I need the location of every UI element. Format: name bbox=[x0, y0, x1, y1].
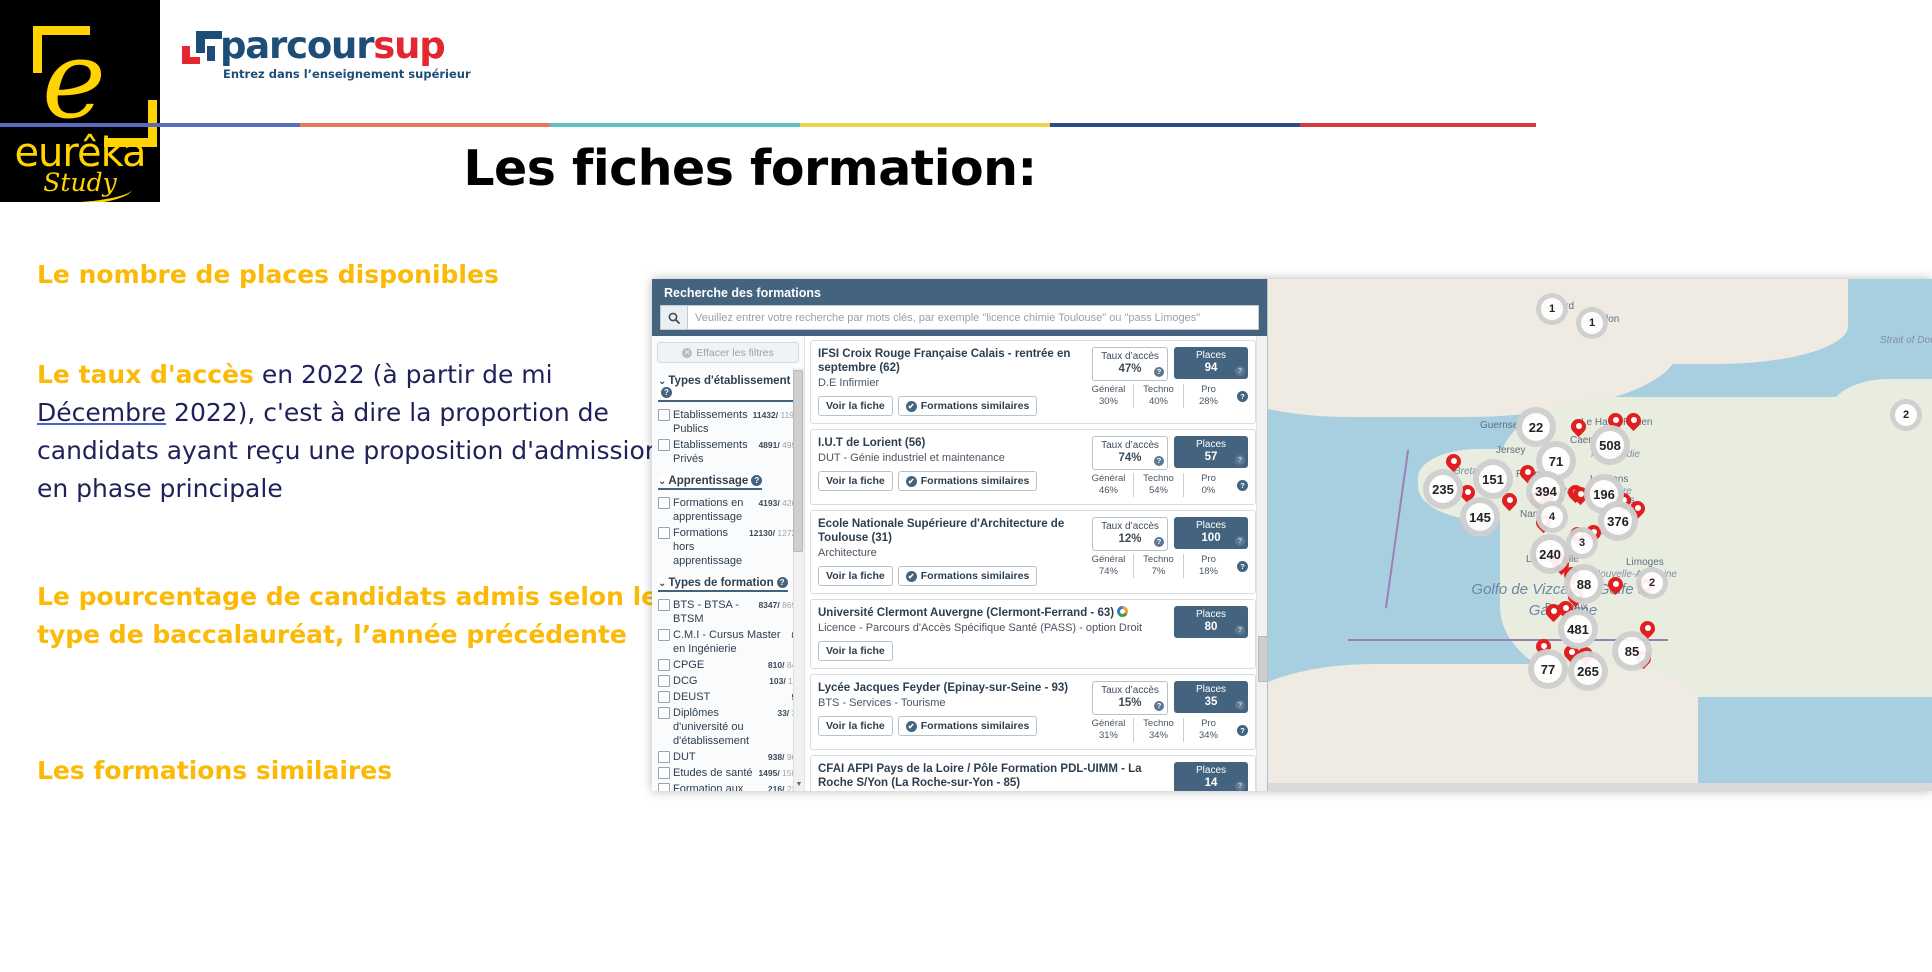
filter-item-label: Formations hors apprentissage bbox=[673, 526, 744, 568]
bullet-pourcentage-candidats: Le pourcentage de candidats admis selon … bbox=[37, 578, 677, 654]
result-card-main: CFAI AFPI Pays de la Loire / Pôle Format… bbox=[818, 762, 1168, 791]
bac-pro-value: 34% bbox=[1199, 730, 1218, 741]
result-stats: Taux d’accès47%?Places94?Général30%Techn… bbox=[1084, 347, 1248, 408]
result-card-main: Université Clermont Auvergne (Clermont-F… bbox=[818, 606, 1168, 661]
bac-general: Général31% bbox=[1084, 718, 1134, 742]
map-place-label: Jersey bbox=[1496, 445, 1525, 456]
help-icon[interactable]: ? bbox=[1235, 455, 1245, 465]
divider-segment bbox=[800, 123, 1050, 127]
map-cluster-marker[interactable]: 2 bbox=[1890, 399, 1922, 431]
map-pin-icon[interactable] bbox=[1608, 577, 1623, 592]
divider-segment bbox=[1050, 123, 1300, 127]
bac-techno: Techno34% bbox=[1134, 718, 1184, 742]
places-label: Places bbox=[1174, 765, 1248, 777]
taux-acces-badge: Taux d’accès47%? bbox=[1092, 347, 1168, 381]
help-icon[interactable]: ? bbox=[777, 577, 788, 588]
chevron-down-icon: ⌄ bbox=[658, 376, 666, 387]
bac-techno-value: 7% bbox=[1152, 566, 1166, 577]
map-pin-icon[interactable] bbox=[1446, 454, 1461, 469]
filter-group-label: Types de formation bbox=[668, 577, 773, 589]
bac-pro-label: Pro bbox=[1184, 554, 1233, 566]
map-cluster-marker[interactable]: 145 bbox=[1460, 497, 1500, 537]
bac-breakdown: Général74%Techno7%Pro18%? bbox=[1084, 554, 1248, 578]
filter-item-label: DEUST bbox=[673, 690, 787, 704]
voir-la-fiche-button[interactable]: Voir la fiche bbox=[818, 471, 893, 491]
result-actions: Voir la fiche✔Formations similaires bbox=[818, 566, 1078, 586]
map-cluster-marker[interactable]: 240 bbox=[1530, 534, 1570, 574]
help-icon[interactable]: ? bbox=[1235, 366, 1245, 376]
close-icon: ✕ bbox=[682, 348, 692, 358]
bullet-text-run: Le nombre de places disponibles bbox=[37, 260, 499, 289]
help-icon[interactable]: ? bbox=[1154, 701, 1164, 711]
bac-general: Général30% bbox=[1084, 384, 1134, 408]
bac-general-value: 46% bbox=[1099, 485, 1118, 496]
places-badge: Places35? bbox=[1174, 681, 1248, 713]
bullet-text-run: Les formations similaires bbox=[37, 756, 392, 785]
voir-la-fiche-button[interactable]: Voir la fiche bbox=[818, 566, 893, 586]
chevron-down-icon: ⌄ bbox=[658, 578, 666, 589]
stat-badges: Taux d’accès74%?Places57? bbox=[1092, 436, 1248, 470]
filter-item[interactable]: DUT938/ 962 bbox=[658, 750, 801, 764]
filter-item[interactable]: Etudes de santé1495/ 1584 bbox=[658, 766, 801, 780]
filter-item-label: Formations en apprentissage bbox=[673, 496, 753, 524]
places-badge: Places94? bbox=[1174, 347, 1248, 379]
result-card-main: I.U.T de Lorient (56)DUT - Génie industr… bbox=[818, 436, 1078, 491]
bac-pro: Pro28% bbox=[1184, 384, 1233, 408]
results-scrollbar[interactable] bbox=[1256, 336, 1267, 791]
search-input[interactable] bbox=[687, 305, 1259, 330]
filter-checkbox[interactable] bbox=[658, 629, 670, 641]
bullet-taux-acces: Le taux d'accès en 2022 (à partir de mi … bbox=[37, 356, 687, 508]
map-maritime-border bbox=[1385, 450, 1409, 609]
filter-item[interactable]: Diplômes d'université ou d'établissement… bbox=[658, 706, 801, 748]
bac-general-value: 74% bbox=[1099, 566, 1118, 577]
bac-techno-value: 40% bbox=[1149, 396, 1168, 407]
help-icon[interactable]: ? bbox=[1235, 625, 1245, 635]
result-stats: Taux d’accès15%?Places35?Général31%Techn… bbox=[1084, 681, 1248, 742]
result-stats: Taux d’accès12%?Places100?Général74%Tech… bbox=[1084, 517, 1248, 578]
app-header-title: Recherche des formations bbox=[660, 285, 1259, 305]
bac-techno: Techno7% bbox=[1134, 554, 1184, 578]
voir-la-fiche-button[interactable]: Voir la fiche bbox=[818, 396, 893, 416]
slide-canvas: e eurêka Study parcoursup Entrez dans l’… bbox=[0, 0, 1932, 972]
color-divider bbox=[0, 123, 1536, 127]
bac-techno-label: Techno bbox=[1134, 554, 1183, 566]
scroll-down-icon[interactable]: ▼ bbox=[795, 781, 803, 789]
map-cluster-marker[interactable]: 508 bbox=[1590, 425, 1630, 465]
map-landmass-north bbox=[1828, 379, 1932, 499]
bac-pro-value: 18% bbox=[1199, 566, 1218, 577]
result-title: Lycée Jacques Feyder (Epinay-sur-Seine -… bbox=[818, 681, 1078, 695]
result-subtitle: DUT - Génie industriel et maintenance bbox=[818, 451, 1078, 465]
result-actions: Voir la fiche bbox=[818, 641, 1168, 661]
bac-general: Général46% bbox=[1084, 473, 1134, 497]
filter-item-label: Etablissements Privés bbox=[673, 438, 753, 466]
map-cluster-marker[interactable]: 2 bbox=[1636, 567, 1668, 599]
filter-group-header[interactable]: ⌄Apprentissage? bbox=[658, 475, 762, 490]
result-subtitle: Licence - Parcours d'Accès Spécifique Sa… bbox=[818, 621, 1168, 635]
search-icon[interactable] bbox=[660, 305, 687, 330]
bac-breakdown: Général46%Techno54%Pro0%? bbox=[1084, 473, 1248, 497]
check-circle-icon: ✔ bbox=[906, 571, 917, 582]
result-actions: Voir la fiche✔Formations similaires bbox=[818, 396, 1078, 416]
result-title: IFSI Croix Rouge Française Calais - rent… bbox=[818, 347, 1078, 375]
help-icon[interactable]: ? bbox=[1237, 725, 1248, 736]
filter-checkbox[interactable] bbox=[658, 675, 670, 687]
stat-badges: Places14? bbox=[1174, 762, 1248, 791]
bac-pro: Pro34% bbox=[1184, 718, 1233, 742]
map-pin-icon[interactable] bbox=[1626, 413, 1641, 428]
filters-sidebar: ✕ Effacer les filtres ⌄Types d'établisse… bbox=[652, 336, 805, 791]
filter-item-label: CPGE bbox=[673, 658, 763, 672]
voir-la-fiche-button[interactable]: Voir la fiche bbox=[818, 641, 893, 661]
bullet-formations-similaires: Les formations similaires bbox=[37, 752, 677, 790]
map-cluster-marker[interactable]: 85 bbox=[1612, 631, 1652, 671]
taux-acces-label: Taux d’accès bbox=[1093, 521, 1167, 533]
bullet-text-run: Le pourcentage de candidats admis selon … bbox=[37, 582, 658, 649]
stat-badges: Taux d’accès15%?Places35? bbox=[1092, 681, 1248, 715]
bac-breakdown: Général30%Techno40%Pro28%? bbox=[1084, 384, 1248, 408]
bac-general-label: Général bbox=[1084, 384, 1133, 396]
search-bar bbox=[660, 305, 1259, 330]
results-map[interactable]: Golfo de Vizcaya - Golfe de Gascogne Oxf… bbox=[1267, 279, 1932, 791]
app-body: ✕ Effacer les filtres ⌄Types d'établisse… bbox=[652, 336, 1267, 791]
filter-checkbox[interactable] bbox=[658, 599, 670, 611]
parcoursup-logo: parcoursup Entrez dans l’enseignement su… bbox=[178, 26, 418, 88]
bac-pro-value: 28% bbox=[1199, 396, 1218, 407]
filter-group-label: Apprentissage bbox=[668, 475, 748, 487]
filter-groups: ⌄Types d'établissement?Etablissements Pu… bbox=[658, 368, 801, 791]
places-label: Places bbox=[1174, 684, 1248, 696]
filter-checkbox[interactable] bbox=[658, 409, 670, 421]
results-list: IFSI Croix Rouge Française Calais - rent… bbox=[805, 336, 1256, 791]
result-title: I.U.T de Lorient (56) bbox=[818, 436, 1078, 450]
map-place-label: Limoges bbox=[1626, 557, 1664, 568]
places-badge: Places14? bbox=[1174, 762, 1248, 791]
map-cluster-marker[interactable]: 376 bbox=[1598, 501, 1638, 541]
formations-similaires-label: Formations similaires bbox=[921, 720, 1030, 732]
bac-pro-label: Pro bbox=[1184, 473, 1233, 485]
bac-pro: Pro0% bbox=[1184, 473, 1233, 497]
help-icon[interactable]: ? bbox=[1235, 536, 1245, 546]
stat-badges: Taux d’accès12%?Places100? bbox=[1092, 517, 1248, 551]
chevron-down-icon: ⌄ bbox=[658, 476, 666, 487]
help-icon[interactable]: ? bbox=[1154, 367, 1164, 377]
map-place-label: Strait of Dover - Pas de Calais bbox=[1880, 335, 1932, 346]
taux-acces-label: Taux d’accès bbox=[1093, 351, 1167, 363]
filter-item[interactable]: C.M.I - Cursus Master en Ingénierie86 bbox=[658, 628, 801, 656]
taux-acces-label: Taux d’accès bbox=[1093, 685, 1167, 697]
help-icon[interactable]: ? bbox=[751, 475, 762, 486]
places-badge: Places57? bbox=[1174, 436, 1248, 468]
clear-filters-label: Effacer les filtres bbox=[696, 347, 773, 359]
bullet-text-run: en 2022 (à partir de mi bbox=[254, 360, 553, 389]
logo-letter-e: e bbox=[42, 38, 134, 136]
parcoursup-wordmark: parcoursup bbox=[220, 26, 445, 66]
formations-similaires-button[interactable]: ✔Formations similaires bbox=[898, 471, 1038, 491]
taux-acces-badge: Taux d’accès15%? bbox=[1092, 681, 1168, 715]
parcoursup-mark-part bbox=[207, 46, 215, 61]
result-card-main: Ecole Nationale Supérieure d'Architectur… bbox=[818, 517, 1078, 586]
filter-checkbox[interactable] bbox=[658, 527, 670, 539]
taux-acces-badge: Taux d’accès12%? bbox=[1092, 517, 1168, 551]
filter-checkbox[interactable] bbox=[658, 497, 670, 509]
places-badge: Places100? bbox=[1174, 517, 1248, 549]
parcoursup-word-red: sup bbox=[373, 24, 444, 67]
filter-item[interactable]: DCG103/ 111 bbox=[658, 674, 801, 688]
bac-general-value: 30% bbox=[1099, 396, 1118, 407]
map-cluster-marker[interactable]: 4 bbox=[1536, 501, 1568, 533]
bac-pro-label: Pro bbox=[1184, 718, 1233, 730]
filter-item[interactable]: Etablissements Privés4891/ 4992 bbox=[658, 438, 801, 466]
taux-acces-label: Taux d’accès bbox=[1093, 440, 1167, 452]
divider-segment bbox=[1300, 123, 1536, 127]
filter-checkbox[interactable] bbox=[658, 767, 670, 779]
formations-similaires-button[interactable]: ✔Formations similaires bbox=[898, 566, 1038, 586]
filter-checkbox[interactable] bbox=[658, 783, 670, 791]
filter-checkbox[interactable] bbox=[658, 691, 670, 703]
filter-item-label: BTS - BTSA - BTSM bbox=[673, 598, 753, 626]
divider-segment bbox=[300, 123, 550, 127]
result-card: Ecole Nationale Supérieure d'Architectur… bbox=[810, 510, 1256, 594]
filter-group-header[interactable]: ⌄Types d'établissement? bbox=[658, 375, 801, 402]
result-title: CFAI AFPI Pays de la Loire / Pôle Format… bbox=[818, 762, 1168, 790]
filter-item[interactable]: Formations en apprentissage4193/ 4263 bbox=[658, 496, 801, 524]
bac-techno-label: Techno bbox=[1134, 718, 1183, 730]
bac-general-value: 31% bbox=[1099, 730, 1118, 741]
voir-la-fiche-button[interactable]: Voir la fiche bbox=[818, 716, 893, 736]
result-card: IFSI Croix Rouge Française Calais - rent… bbox=[810, 340, 1256, 424]
map-bottom-bar bbox=[1268, 783, 1932, 791]
parcoursup-mark-part bbox=[182, 57, 200, 64]
bac-pro-label: Pro bbox=[1184, 384, 1233, 396]
places-badge: Places80? bbox=[1174, 606, 1248, 638]
filters-scrollbar[interactable]: ▲ ▼ bbox=[793, 368, 804, 791]
result-subtitle: D.E Infirmier bbox=[818, 376, 1078, 390]
bac-techno-label: Techno bbox=[1134, 384, 1183, 396]
help-icon[interactable]: ? bbox=[1237, 391, 1248, 402]
places-label: Places bbox=[1174, 350, 1248, 362]
filter-checkbox[interactable] bbox=[658, 751, 670, 763]
bac-techno-value: 34% bbox=[1149, 730, 1168, 741]
help-icon[interactable]: ? bbox=[1154, 537, 1164, 547]
map-cluster-marker[interactable]: 265 bbox=[1568, 651, 1608, 691]
bac-techno: Techno40% bbox=[1134, 384, 1184, 408]
bac-breakdown: Général31%Techno34%Pro34%? bbox=[1084, 718, 1248, 742]
page-title: Les fiches formation: bbox=[0, 140, 1500, 197]
result-card: I.U.T de Lorient (56)DUT - Génie industr… bbox=[810, 429, 1256, 505]
filter-checkbox[interactable] bbox=[658, 659, 670, 671]
result-stats: Taux d’accès74%?Places57?Général46%Techn… bbox=[1084, 436, 1248, 497]
result-actions: Voir la fiche✔Formations similaires bbox=[818, 716, 1078, 736]
clear-filters-button[interactable]: ✕ Effacer les filtres bbox=[657, 342, 799, 363]
taux-acces-badge: Taux d’accès74%? bbox=[1092, 436, 1168, 470]
help-icon[interactable]: ? bbox=[1237, 480, 1248, 491]
formations-similaires-label: Formations similaires bbox=[921, 570, 1030, 582]
check-circle-icon: ✔ bbox=[906, 401, 917, 412]
places-label: Places bbox=[1174, 609, 1248, 621]
formations-similaires-button[interactable]: ✔Formations similaires bbox=[898, 396, 1038, 416]
result-actions: Voir la fiche✔Formations similaires bbox=[818, 471, 1078, 491]
bac-techno-label: Techno bbox=[1134, 473, 1183, 485]
divider-segment bbox=[550, 123, 800, 127]
result-title: Ecole Nationale Supérieure d'Architectur… bbox=[818, 517, 1078, 545]
app-header: Recherche des formations bbox=[652, 279, 1267, 336]
parcoursup-word-dark: parcour bbox=[220, 24, 373, 67]
bac-pro-value: 0% bbox=[1202, 485, 1216, 496]
filter-item[interactable]: Formation aux métiers du sport216/ 224 bbox=[658, 782, 801, 791]
formations-similaires-label: Formations similaires bbox=[921, 400, 1030, 412]
filter-item[interactable]: DEUST58 bbox=[658, 690, 801, 704]
result-subtitle: Architecture bbox=[818, 546, 1078, 560]
divider-segment bbox=[0, 123, 300, 127]
help-icon[interactable]: ? bbox=[1235, 700, 1245, 710]
filter-item-label: Etablissements Publics bbox=[673, 408, 748, 436]
map-cluster-marker[interactable]: 88 bbox=[1564, 564, 1604, 604]
result-card-main: Lycée Jacques Feyder (Epinay-sur-Seine -… bbox=[818, 681, 1078, 736]
result-title: Université Clermont Auvergne (Clermont-F… bbox=[818, 606, 1168, 620]
result-card-main: IFSI Croix Rouge Française Calais - rent… bbox=[818, 347, 1078, 416]
app-left-pane: Recherche des formations ✕ Efface bbox=[652, 279, 1267, 791]
filter-item-label: Etudes de santé bbox=[673, 766, 753, 780]
help-icon[interactable]: ? bbox=[1235, 781, 1245, 791]
bac-pro: Pro18% bbox=[1184, 554, 1233, 578]
map-landmass-uk-east bbox=[1518, 279, 1848, 364]
places-label: Places bbox=[1174, 439, 1248, 451]
result-card: CFAI AFPI Pays de la Loire / Pôle Format… bbox=[810, 755, 1256, 791]
map-cluster-marker[interactable]: 77 bbox=[1528, 649, 1568, 689]
filter-item[interactable]: CPGE810/ 849 bbox=[658, 658, 801, 672]
bac-techno: Techno54% bbox=[1134, 473, 1184, 497]
map-pin-icon[interactable] bbox=[1571, 419, 1586, 434]
places-label: Places bbox=[1174, 520, 1248, 532]
parcoursup-search-app: Recherche des formations ✕ Efface bbox=[652, 279, 1932, 791]
filter-checkbox[interactable] bbox=[658, 707, 670, 719]
bullet-text-run: Le taux d'accès bbox=[37, 360, 254, 389]
map-cluster-marker[interactable]: 481 bbox=[1558, 609, 1598, 649]
filter-item[interactable]: BTS - BTSA - BTSM8347/ 8693 bbox=[658, 598, 801, 626]
map-cluster-marker[interactable]: 3 bbox=[1566, 527, 1598, 559]
result-card: Lycée Jacques Feyder (Epinay-sur-Seine -… bbox=[810, 674, 1256, 750]
filter-group-label: Types d'établissement bbox=[668, 375, 790, 387]
formations-similaires-label: Formations similaires bbox=[921, 475, 1030, 487]
bullet-text-run: Décembre bbox=[37, 398, 166, 427]
map-cluster-marker[interactable]: 1 bbox=[1536, 293, 1568, 325]
filter-item-label: Formation aux métiers du sport bbox=[673, 782, 763, 791]
result-subtitle: BTS - Services - Tourisme bbox=[818, 696, 1078, 710]
parcoursup-tagline: Entrez dans l’enseignement supérieur bbox=[223, 67, 471, 81]
check-circle-icon: ✔ bbox=[906, 721, 917, 732]
result-card: Université Clermont Auvergne (Clermont-F… bbox=[810, 599, 1256, 669]
filter-checkbox[interactable] bbox=[658, 439, 670, 451]
filters-scroll-area: ⌄Types d'établissement?Etablissements Pu… bbox=[652, 368, 804, 791]
bac-general-label: Général bbox=[1084, 473, 1133, 485]
filter-item[interactable]: Etablissements Publics11432/ 11998 bbox=[658, 408, 801, 436]
result-stats: Places14? bbox=[1174, 762, 1248, 791]
help-icon[interactable]: ? bbox=[661, 387, 672, 398]
map-cluster-marker[interactable]: 235 bbox=[1423, 469, 1463, 509]
filter-item[interactable]: Formations hors apprentissage12130/ 1272… bbox=[658, 526, 801, 568]
map-cluster-marker[interactable]: 1 bbox=[1576, 307, 1608, 339]
filter-item-label: C.M.I - Cursus Master en Ingénierie bbox=[673, 628, 787, 656]
bac-general: Général74% bbox=[1084, 554, 1134, 578]
help-icon[interactable]: ? bbox=[1237, 561, 1248, 572]
bac-techno-value: 54% bbox=[1149, 485, 1168, 496]
map-cluster-marker[interactable]: 151 bbox=[1473, 459, 1513, 499]
map-landmass-spain bbox=[1267, 664, 1698, 791]
filter-item-label: DUT bbox=[673, 750, 763, 764]
help-icon[interactable]: ? bbox=[1154, 456, 1164, 466]
pass-colored-icon bbox=[1117, 606, 1128, 617]
parcoursup-mark-part bbox=[196, 31, 205, 53]
filter-item-label: Diplômes d'université ou d'établissement bbox=[673, 706, 772, 748]
stat-badges: Taux d’accès47%?Places94? bbox=[1092, 347, 1248, 381]
filter-group-header[interactable]: ⌄Types de formation? bbox=[658, 577, 788, 592]
filters-scrollbar-thumb[interactable] bbox=[793, 370, 803, 552]
formations-similaires-button[interactable]: ✔Formations similaires bbox=[898, 716, 1038, 736]
bac-general-label: Général bbox=[1084, 554, 1133, 566]
results-pane: IFSI Croix Rouge Française Calais - rent… bbox=[805, 336, 1267, 791]
check-circle-icon: ✔ bbox=[906, 476, 917, 487]
stat-badges: Places80? bbox=[1174, 606, 1248, 638]
filter-item-label: DCG bbox=[673, 674, 764, 688]
bullet-places-disponibles: Le nombre de places disponibles bbox=[37, 256, 677, 294]
bac-general-label: Général bbox=[1084, 718, 1133, 730]
result-stats: Places80? bbox=[1174, 606, 1248, 638]
